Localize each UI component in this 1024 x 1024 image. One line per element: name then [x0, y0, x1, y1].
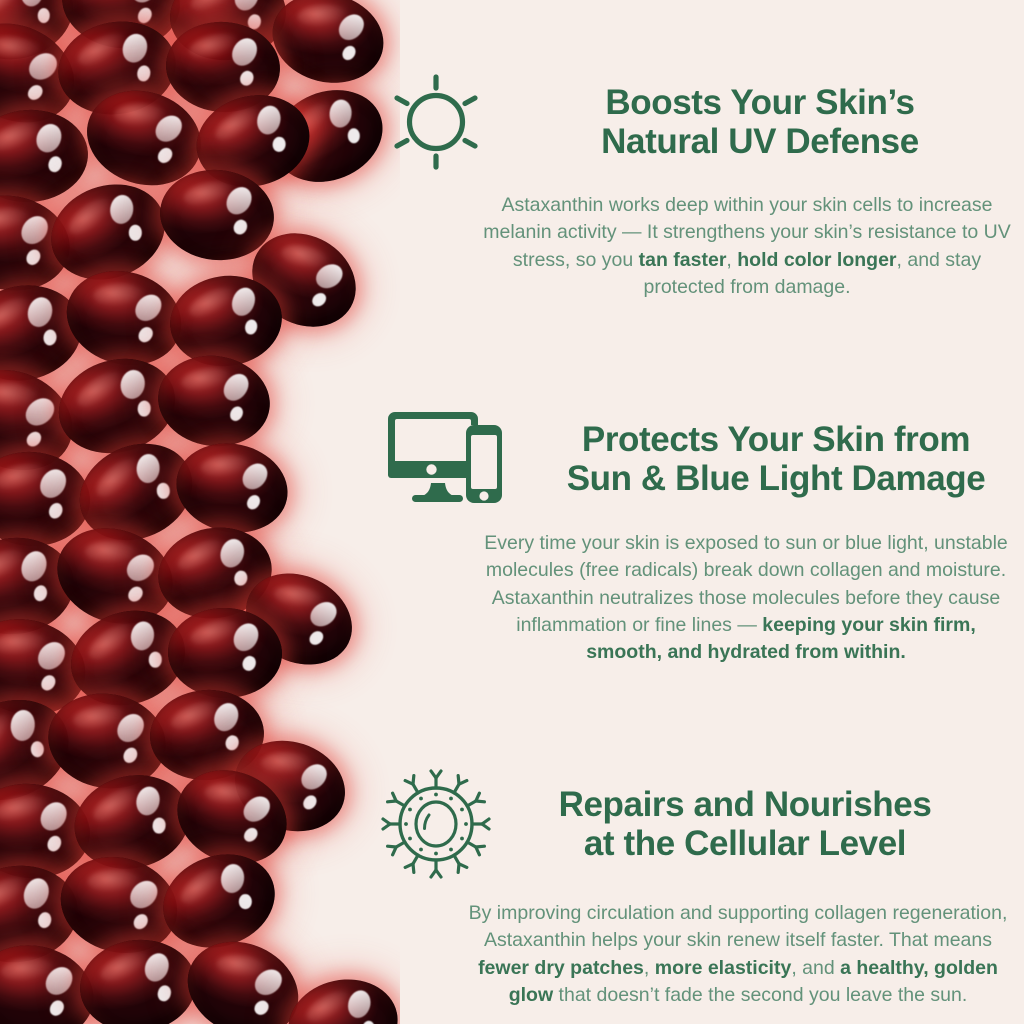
capsule-glint: [47, 155, 64, 174]
feature-title-line2: Natural UV Defense: [601, 122, 919, 161]
feature-header: Repairs and Nourishes at the Cellular Le…: [380, 768, 1024, 880]
capsule-glint: [252, 998, 272, 1018]
feature-header: Protects Your Skin from Sun & Blue Light…: [380, 406, 1024, 512]
capsule-glint: [23, 429, 44, 450]
capsule: [168, 433, 296, 542]
capsule-glint: [126, 584, 146, 604]
feature-title: Protects Your Skin from Sun & Blue Light…: [528, 420, 1024, 498]
capsule: [152, 349, 275, 454]
capsule-glint: [340, 43, 359, 62]
capsule-glint: [310, 290, 329, 309]
feature-list: Boosts Your Skin’s Natural UV Defense As…: [380, 0, 1024, 1024]
feature-title: Boosts Your Skin’s Natural UV Defense: [510, 83, 1010, 161]
capsule-glint: [244, 318, 259, 336]
feature-body: Astaxanthin works deep within your skin …: [482, 192, 1012, 301]
capsule: [0, 106, 91, 206]
feature-title: Repairs and Nourishes at the Cellular Le…: [510, 785, 980, 863]
capsule-glint: [224, 734, 240, 752]
capsule-glint: [347, 128, 360, 143]
feature-title-line2: Sun & Blue Light Damage: [567, 459, 986, 498]
feature-block-uv-defense: Boosts Your Skin’s Natural UV Defense As…: [380, 66, 1024, 301]
capsule-glint: [32, 584, 49, 603]
feature-title-line1: Protects Your Skin from: [582, 420, 970, 459]
capsule-glint: [231, 217, 249, 236]
feature-title-line1: Boosts Your Skin’s: [605, 83, 914, 122]
capsule-glint: [307, 628, 326, 647]
monitor-phone-icon: [380, 406, 510, 512]
capsule-glint: [239, 894, 252, 909]
capsule-glint: [301, 793, 320, 812]
capsule-glint: [131, 911, 151, 932]
capsule-glint: [39, 672, 59, 693]
capsule-glint: [47, 998, 67, 1019]
capsule-glint: [240, 654, 257, 673]
capsule-glint: [136, 64, 151, 82]
capsule-glint: [137, 400, 151, 416]
feature-title-line1: Repairs and Nourishes: [559, 785, 932, 824]
capsule-glint: [37, 8, 50, 23]
capsule-glint: [42, 329, 57, 347]
capsule-glint: [121, 745, 140, 765]
capsule-glint: [227, 404, 245, 423]
feature-body: By improving circulation and supporting …: [458, 900, 1018, 1009]
capsule-glint: [36, 911, 53, 930]
capsule: [263, 0, 393, 94]
capsule-glint: [136, 324, 155, 344]
capsule-glint: [151, 817, 165, 834]
capsule-glint: [46, 501, 64, 521]
capsule-glint: [25, 82, 46, 103]
capsule-glint: [45, 833, 64, 853]
capsule-photo-field: [0, 0, 400, 1024]
capsule: [76, 934, 201, 1024]
capsule-glint: [24, 247, 43, 267]
capsule-glint: [155, 145, 175, 165]
capsule-glint: [156, 984, 172, 1002]
capsule-glint: [233, 569, 248, 586]
infographic-canvas: Boosts Your Skin’s Natural UV Defense As…: [0, 0, 1024, 1024]
capsule-glint: [135, 5, 154, 25]
feature-header: Boosts Your Skin’s Natural UV Defense: [380, 66, 1024, 178]
feature-body: Every time your skin is exposed to sun o…: [476, 530, 1016, 666]
feature-block-cellular-repair: Repairs and Nourishes at the Cellular Le…: [380, 768, 1024, 1009]
capsule-glint: [238, 69, 256, 88]
capsule-glint: [128, 225, 141, 241]
capsule-glint: [272, 136, 286, 153]
capsule-glint: [361, 1020, 375, 1024]
capsule-glint: [30, 741, 44, 758]
capsule-glint: [244, 492, 262, 511]
feature-block-blue-light: Protects Your Skin from Sun & Blue Light…: [380, 406, 1024, 666]
sun-icon: [380, 66, 492, 178]
capsule-glint: [241, 825, 260, 845]
feature-title-line2: at the Cellular Level: [584, 824, 906, 863]
cell-icon: [380, 768, 492, 880]
capsule-glint: [156, 482, 170, 498]
capsule-glint: [148, 651, 161, 667]
